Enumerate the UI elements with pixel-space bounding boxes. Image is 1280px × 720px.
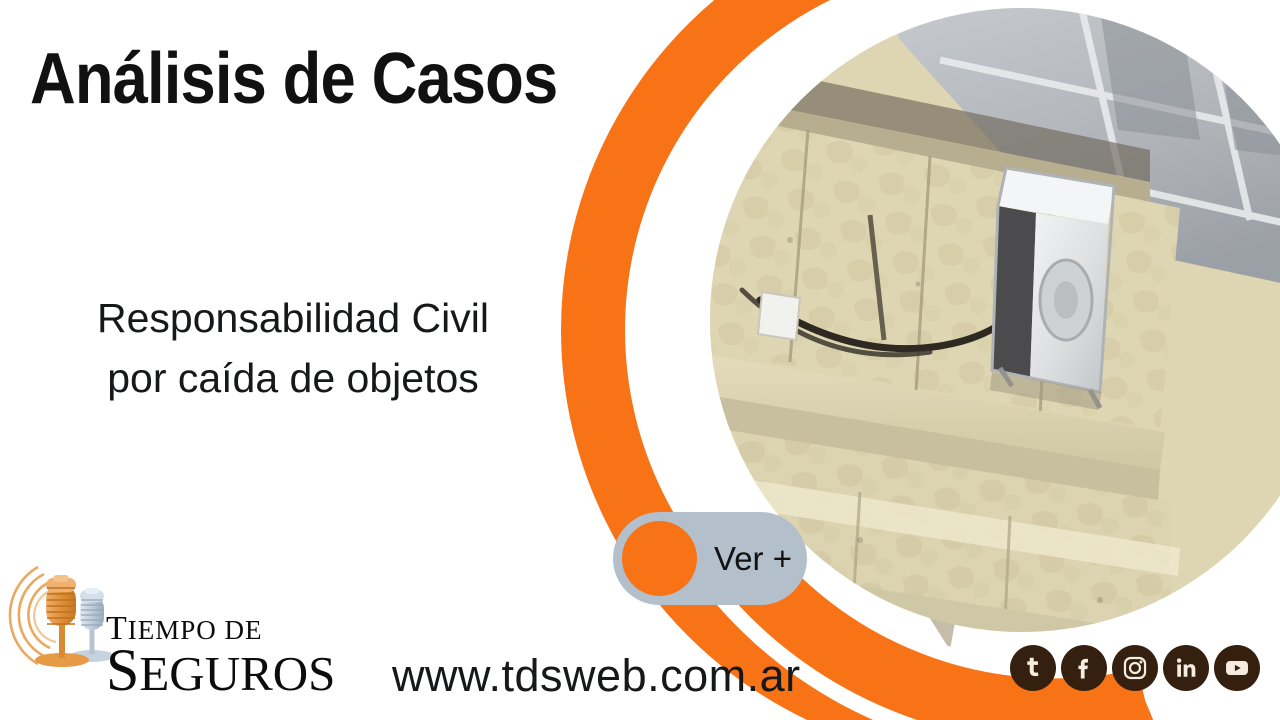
toggle-knob-icon bbox=[622, 521, 697, 596]
ver-mas-label: Ver + bbox=[709, 512, 797, 605]
orange-arc-ring bbox=[593, 0, 1145, 720]
youtube-icon[interactable] bbox=[1214, 645, 1260, 691]
brand-tiempo-rest: IEMPO DE bbox=[128, 615, 263, 645]
instagram-icon[interactable] bbox=[1112, 645, 1158, 691]
slide-canvas: Análisis de Casos Responsabilidad Civil … bbox=[0, 0, 1280, 720]
brand-line-seguros: SEGUROS bbox=[106, 643, 311, 701]
brand-s-glyph: S bbox=[106, 637, 139, 703]
linkedin-icon[interactable] bbox=[1163, 645, 1209, 691]
subtitle-line-1: Responsabilidad Civil bbox=[58, 288, 528, 348]
website-url[interactable]: www.tdsweb.com.ar bbox=[392, 650, 801, 702]
subtitle-line-2: por caída de objetos bbox=[58, 348, 528, 408]
page-subtitle: Responsabilidad Civil por caída de objet… bbox=[58, 288, 528, 408]
ver-mas-button[interactable]: Ver + bbox=[613, 512, 807, 605]
speech-bubble-tail-fill bbox=[893, 512, 975, 650]
page-title: Análisis de Casos bbox=[30, 38, 557, 120]
twitter-icon[interactable] bbox=[1010, 645, 1056, 691]
facebook-icon[interactable] bbox=[1061, 645, 1107, 691]
brand-logo[interactable]: TIEMPO DE SEGUROS bbox=[6, 556, 306, 714]
brand-seguros-rest: EGUROS bbox=[139, 646, 335, 701]
air-conditioner-unit bbox=[990, 168, 1114, 410]
brand-wordmark: TIEMPO DE SEGUROS bbox=[106, 614, 311, 701]
social-links bbox=[1010, 645, 1260, 691]
speech-bubble-tail bbox=[880, 500, 1010, 680]
